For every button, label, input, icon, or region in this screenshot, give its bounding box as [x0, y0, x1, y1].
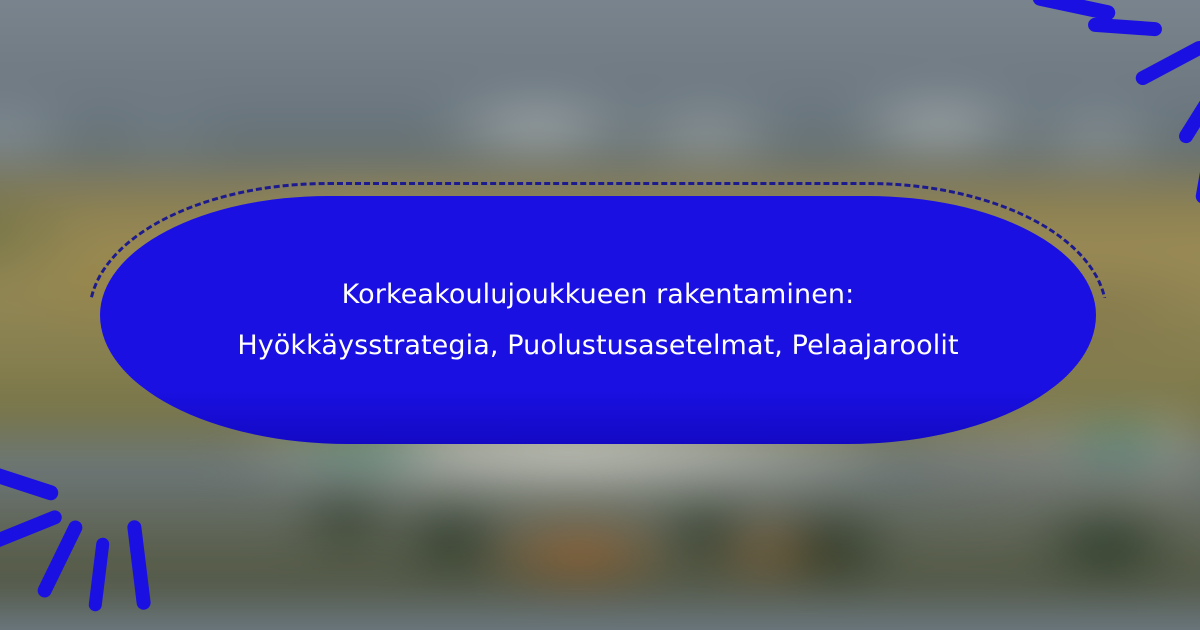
starburst-ray	[88, 537, 110, 612]
starburst-ray	[0, 508, 64, 549]
headline-line-2: Hyökkäysstrategia, Puolustusasetelmat, P…	[237, 320, 958, 371]
page-title: Korkeakoulujoukkueen rakentaminen: Hyökk…	[100, 196, 1096, 444]
starburst-ray	[127, 519, 152, 610]
title-card-canvas: Korkeakoulujoukkueen rakentaminen: Hyökk…	[0, 0, 1200, 630]
starburst-rays-top-right	[986, 0, 1200, 194]
starburst-ray	[1088, 17, 1163, 36]
starburst-ray	[1176, 72, 1200, 146]
starburst-ray	[0, 461, 60, 502]
starburst-ray	[35, 518, 84, 600]
starburst-rays-bottom-left	[0, 440, 200, 630]
starburst-ray	[1133, 39, 1200, 88]
headline-line-1: Korkeakoulujoukkueen rakentaminen:	[342, 269, 855, 320]
